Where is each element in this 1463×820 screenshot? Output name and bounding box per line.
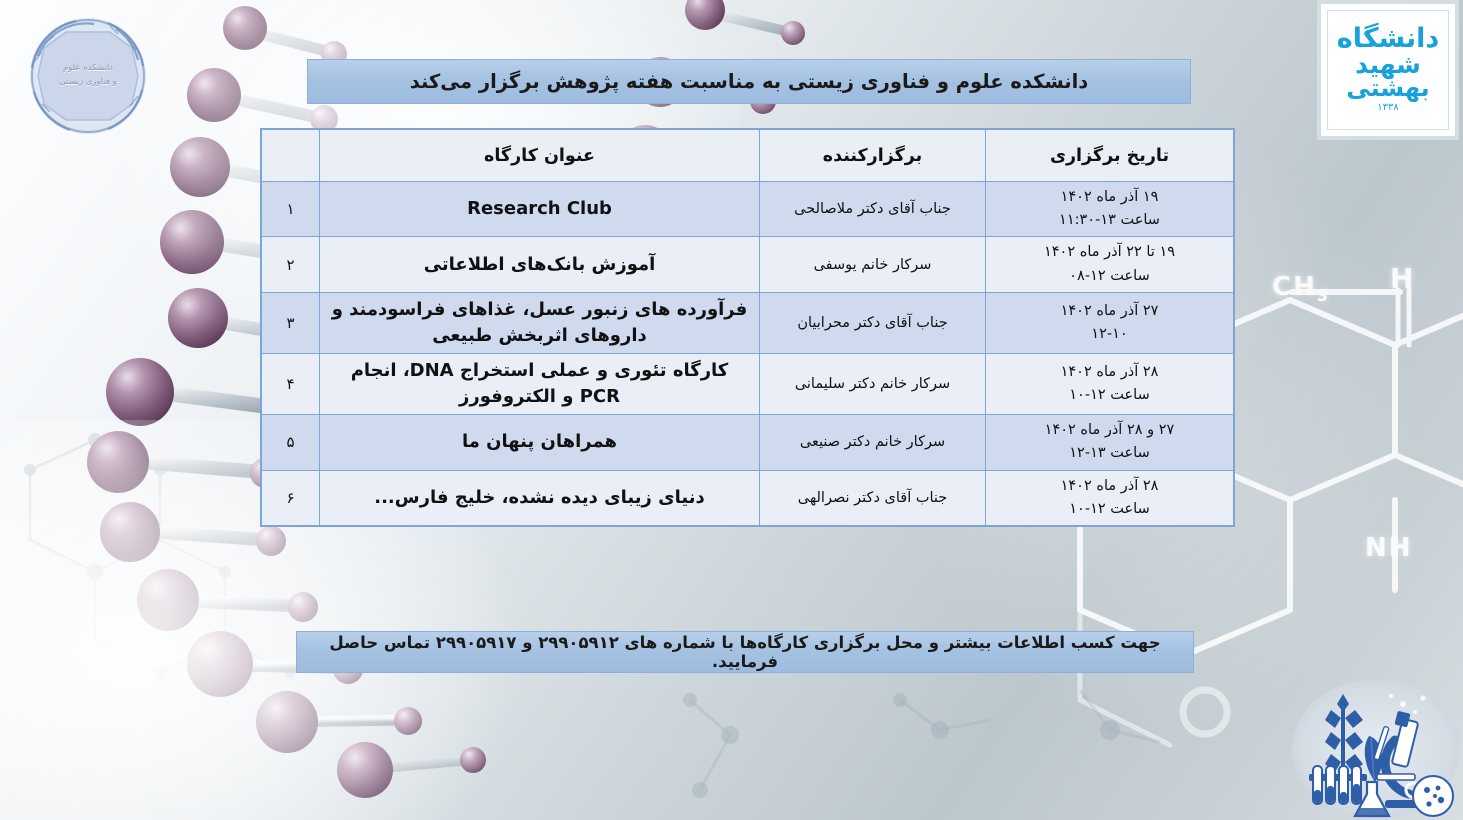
date-line-2: ساعت ۱۳-۱۲ [994, 442, 1225, 465]
workshop-schedule-table: تاریخ برگزاری برگزارکننده عنوان کارگاه ۱… [261, 129, 1234, 526]
contact-info-banner: جهت کسب اطلاعات بیشتر و محل برگزاری کارگ… [296, 631, 1194, 673]
faculty-seal-line2: و فناوری زیستی [22, 75, 154, 89]
cell-row-number: ۱ [262, 182, 320, 237]
title-banner: دانشکده علوم و فناوری زیستی به مناسبت هف… [307, 59, 1191, 104]
logo-calligraphy: دانشگاه شهید بهشتی ۱۳۳۸ [1321, 4, 1455, 136]
university-logo: دانشگاه شهید بهشتی ۱۳۳۸ [1321, 4, 1455, 136]
cell-host: جناب آقای دکتر نصرالهی [760, 470, 986, 525]
cell-row-number: ۶ [262, 470, 320, 525]
cell-date: ۱۹ تا ۲۲ آذر ماه ۱۴۰۲ ساعت ۱۲-۰۸ [986, 237, 1234, 292]
date-line-1: ۲۸ آذر ماه ۱۴۰۲ [994, 475, 1225, 498]
cell-title: کارگاه تئوری و عملی استخراج DNA، انجام P… [320, 353, 760, 414]
chem-label-h: H [1390, 262, 1415, 295]
date-line-2: ساعت ۱۲-۱۰ [994, 498, 1225, 521]
faculty-seal: دانشکده علوم و فناوری زیستی [22, 17, 154, 135]
logo-year: ۱۳۳۸ [1377, 103, 1398, 112]
table-row: ۱۹ تا ۲۲ آذر ماه ۱۴۰۲ ساعت ۱۲-۰۸ سرکار خ… [262, 237, 1234, 292]
table-row: ۲۷ آذر ماه ۱۴۰۲ ۱۲-۱۰ جناب آقای دکتر محر… [262, 292, 1234, 353]
date-line-2: ساعت ۱۳-۱۱:۳۰ [994, 209, 1225, 232]
cell-date: ۲۸ آذر ماه ۱۴۰۲ ساعت ۱۲-۱۰ [986, 353, 1234, 414]
cell-date: ۲۷ و ۲۸ آذر ماه ۱۴۰۲ ساعت ۱۳-۱۲ [986, 415, 1234, 470]
cell-row-number: ۵ [262, 415, 320, 470]
cell-date: ۱۹ آذر ماه ۱۴۰۲ ساعت ۱۳-۱۱:۳۰ [986, 182, 1234, 237]
cell-row-number: ۳ [262, 292, 320, 353]
chem-label-nh: NH [1365, 533, 1413, 563]
cell-host: جناب آقای دکتر محرابیان [760, 292, 986, 353]
date-line-1: ۱۹ آذر ماه ۱۴۰۲ [994, 186, 1225, 209]
logo-line-beheshti: بهشتی [1346, 77, 1429, 99]
logo-line-shahid: شهید [1355, 53, 1421, 76]
cell-title: همراهان پنهان ما [320, 415, 760, 470]
date-line-2: ساعت ۱۲-۱۰ [994, 384, 1225, 407]
date-line-1: ۲۷ و ۲۸ آذر ماه ۱۴۰۲ [994, 419, 1225, 442]
table-row: ۲۸ آذر ماه ۱۴۰۲ ساعت ۱۲-۱۰ جناب آقای دکت… [262, 470, 1234, 525]
cell-date: ۲۸ آذر ماه ۱۴۰۲ ساعت ۱۲-۱۰ [986, 470, 1234, 525]
chem-label-ch3: CH3 [1272, 272, 1330, 305]
column-header-title: عنوان کارگاه [320, 130, 760, 182]
date-line-1: ۲۸ آذر ماه ۱۴۰۲ [994, 361, 1225, 384]
column-header-num [262, 130, 320, 182]
cell-title: آموزش بانک‌های اطلاعاتی [320, 237, 760, 292]
table-header-row: تاریخ برگزاری برگزارکننده عنوان کارگاه [262, 130, 1234, 182]
biotechnology-illustration [1291, 678, 1461, 820]
cell-host: سرکار خانم دکتر صنیعی [760, 415, 986, 470]
cell-host: سرکار خانم دکتر سلیمانی [760, 353, 986, 414]
date-line-1: ۱۹ تا ۲۲ آذر ماه ۱۴۰۲ [994, 241, 1225, 264]
cell-row-number: ۲ [262, 237, 320, 292]
cell-date: ۲۷ آذر ماه ۱۴۰۲ ۱۲-۱۰ [986, 292, 1234, 353]
poster-canvas: CH3 H NH [0, 0, 1463, 820]
logo-line-daneshgah: دانشگاه [1337, 27, 1440, 52]
table-body: ۱۹ آذر ماه ۱۴۰۲ ساعت ۱۳-۱۱:۳۰ جناب آقای … [262, 182, 1234, 526]
table-row: ۲۸ آذر ماه ۱۴۰۲ ساعت ۱۲-۱۰ سرکار خانم دک… [262, 353, 1234, 414]
column-header-date: تاریخ برگزاری [986, 130, 1234, 182]
column-header-host: برگزارکننده [760, 130, 986, 182]
cell-host: جناب آقای دکتر ملاصالحی [760, 182, 986, 237]
faculty-seal-line1: دانشکده علوم [22, 61, 154, 75]
date-line-1: ۲۷ آذر ماه ۱۴۰۲ [994, 300, 1225, 323]
date-line-2: ۱۲-۱۰ [994, 323, 1225, 346]
cell-row-number: ۴ [262, 353, 320, 414]
table-row: ۱۹ آذر ماه ۱۴۰۲ ساعت ۱۳-۱۱:۳۰ جناب آقای … [262, 182, 1234, 237]
cell-title: Research Club [320, 182, 760, 237]
table-row: ۲۷ و ۲۸ آذر ماه ۱۴۰۲ ساعت ۱۳-۱۲ سرکار خا… [262, 415, 1234, 470]
cell-host: سرکار خانم یوسفی [760, 237, 986, 292]
date-line-2: ساعت ۱۲-۰۸ [994, 265, 1225, 288]
cell-title: فرآورده های زنبور عسل، غذاهای فراسودمند … [320, 292, 760, 353]
cell-title: دنیای زیبای دیده نشده، خلیج فارس... [320, 470, 760, 525]
